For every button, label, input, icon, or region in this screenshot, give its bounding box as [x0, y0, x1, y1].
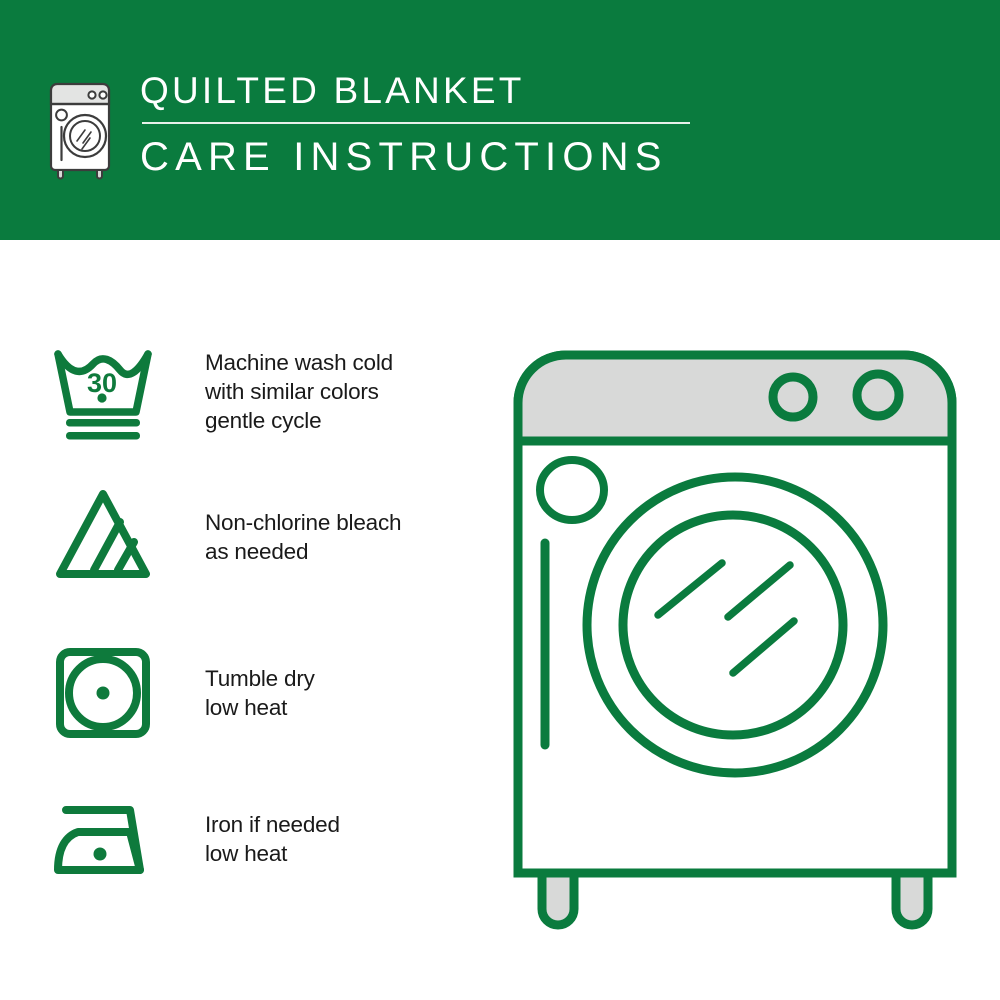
care-text-line: Machine wash cold [205, 348, 393, 377]
tumble-dry-low-heat-icon [48, 638, 158, 748]
care-instruction-text: Machine wash cold with similar colors ge… [205, 340, 393, 435]
care-instructions-page: QUILTED BLANKET CARE INSTRUCTIONS [0, 0, 1000, 1000]
care-text-line: gentle cycle [205, 406, 393, 435]
dispenser-button [540, 460, 604, 520]
care-instruction-text: Non-chlorine bleach as needed [205, 482, 401, 566]
care-text-line: low heat [205, 693, 315, 722]
washing-machine-icon [44, 72, 118, 180]
iron-low-heat-icon [48, 788, 158, 898]
care-instruction-item: Non-chlorine bleach as needed [0, 482, 470, 622]
knob [857, 374, 899, 416]
page-header: QUILTED BLANKET CARE INSTRUCTIONS [0, 0, 1000, 240]
front-load-washing-machine-illustration [490, 325, 980, 935]
care-text-line: low heat [205, 839, 340, 868]
care-text-line: as needed [205, 537, 401, 566]
care-text-line: Iron if needed [205, 810, 340, 839]
triangle-non-chlorine-bleach-icon [48, 482, 158, 592]
knob [773, 377, 813, 417]
title-divider [142, 122, 690, 124]
care-instruction-item: Tumble dry low heat [0, 638, 470, 778]
page-subtitle: CARE INSTRUCTIONS [140, 134, 700, 180]
care-instruction-text: Iron if needed low heat [205, 788, 340, 868]
leg [542, 873, 574, 925]
wash-tub-30-gentle-icon: 30 [48, 340, 158, 450]
door-inner-ring [623, 515, 843, 735]
header-text-block: QUILTED BLANKET CARE INSTRUCTIONS [140, 68, 700, 180]
care-instruction-text: Tumble dry low heat [205, 638, 315, 722]
leg [896, 873, 928, 925]
care-instruction-list: 30 Machine wash cold with similar colors… [0, 240, 470, 1000]
care-text-line: Tumble dry [205, 664, 315, 693]
care-instruction-item: Iron if needed low heat [0, 788, 470, 928]
care-text-line: Non-chlorine bleach [205, 508, 401, 537]
care-text-line: with similar colors [205, 377, 393, 406]
care-instruction-item: 30 Machine wash cold with similar colors… [0, 340, 470, 480]
page-title: QUILTED BLANKET [140, 68, 700, 114]
